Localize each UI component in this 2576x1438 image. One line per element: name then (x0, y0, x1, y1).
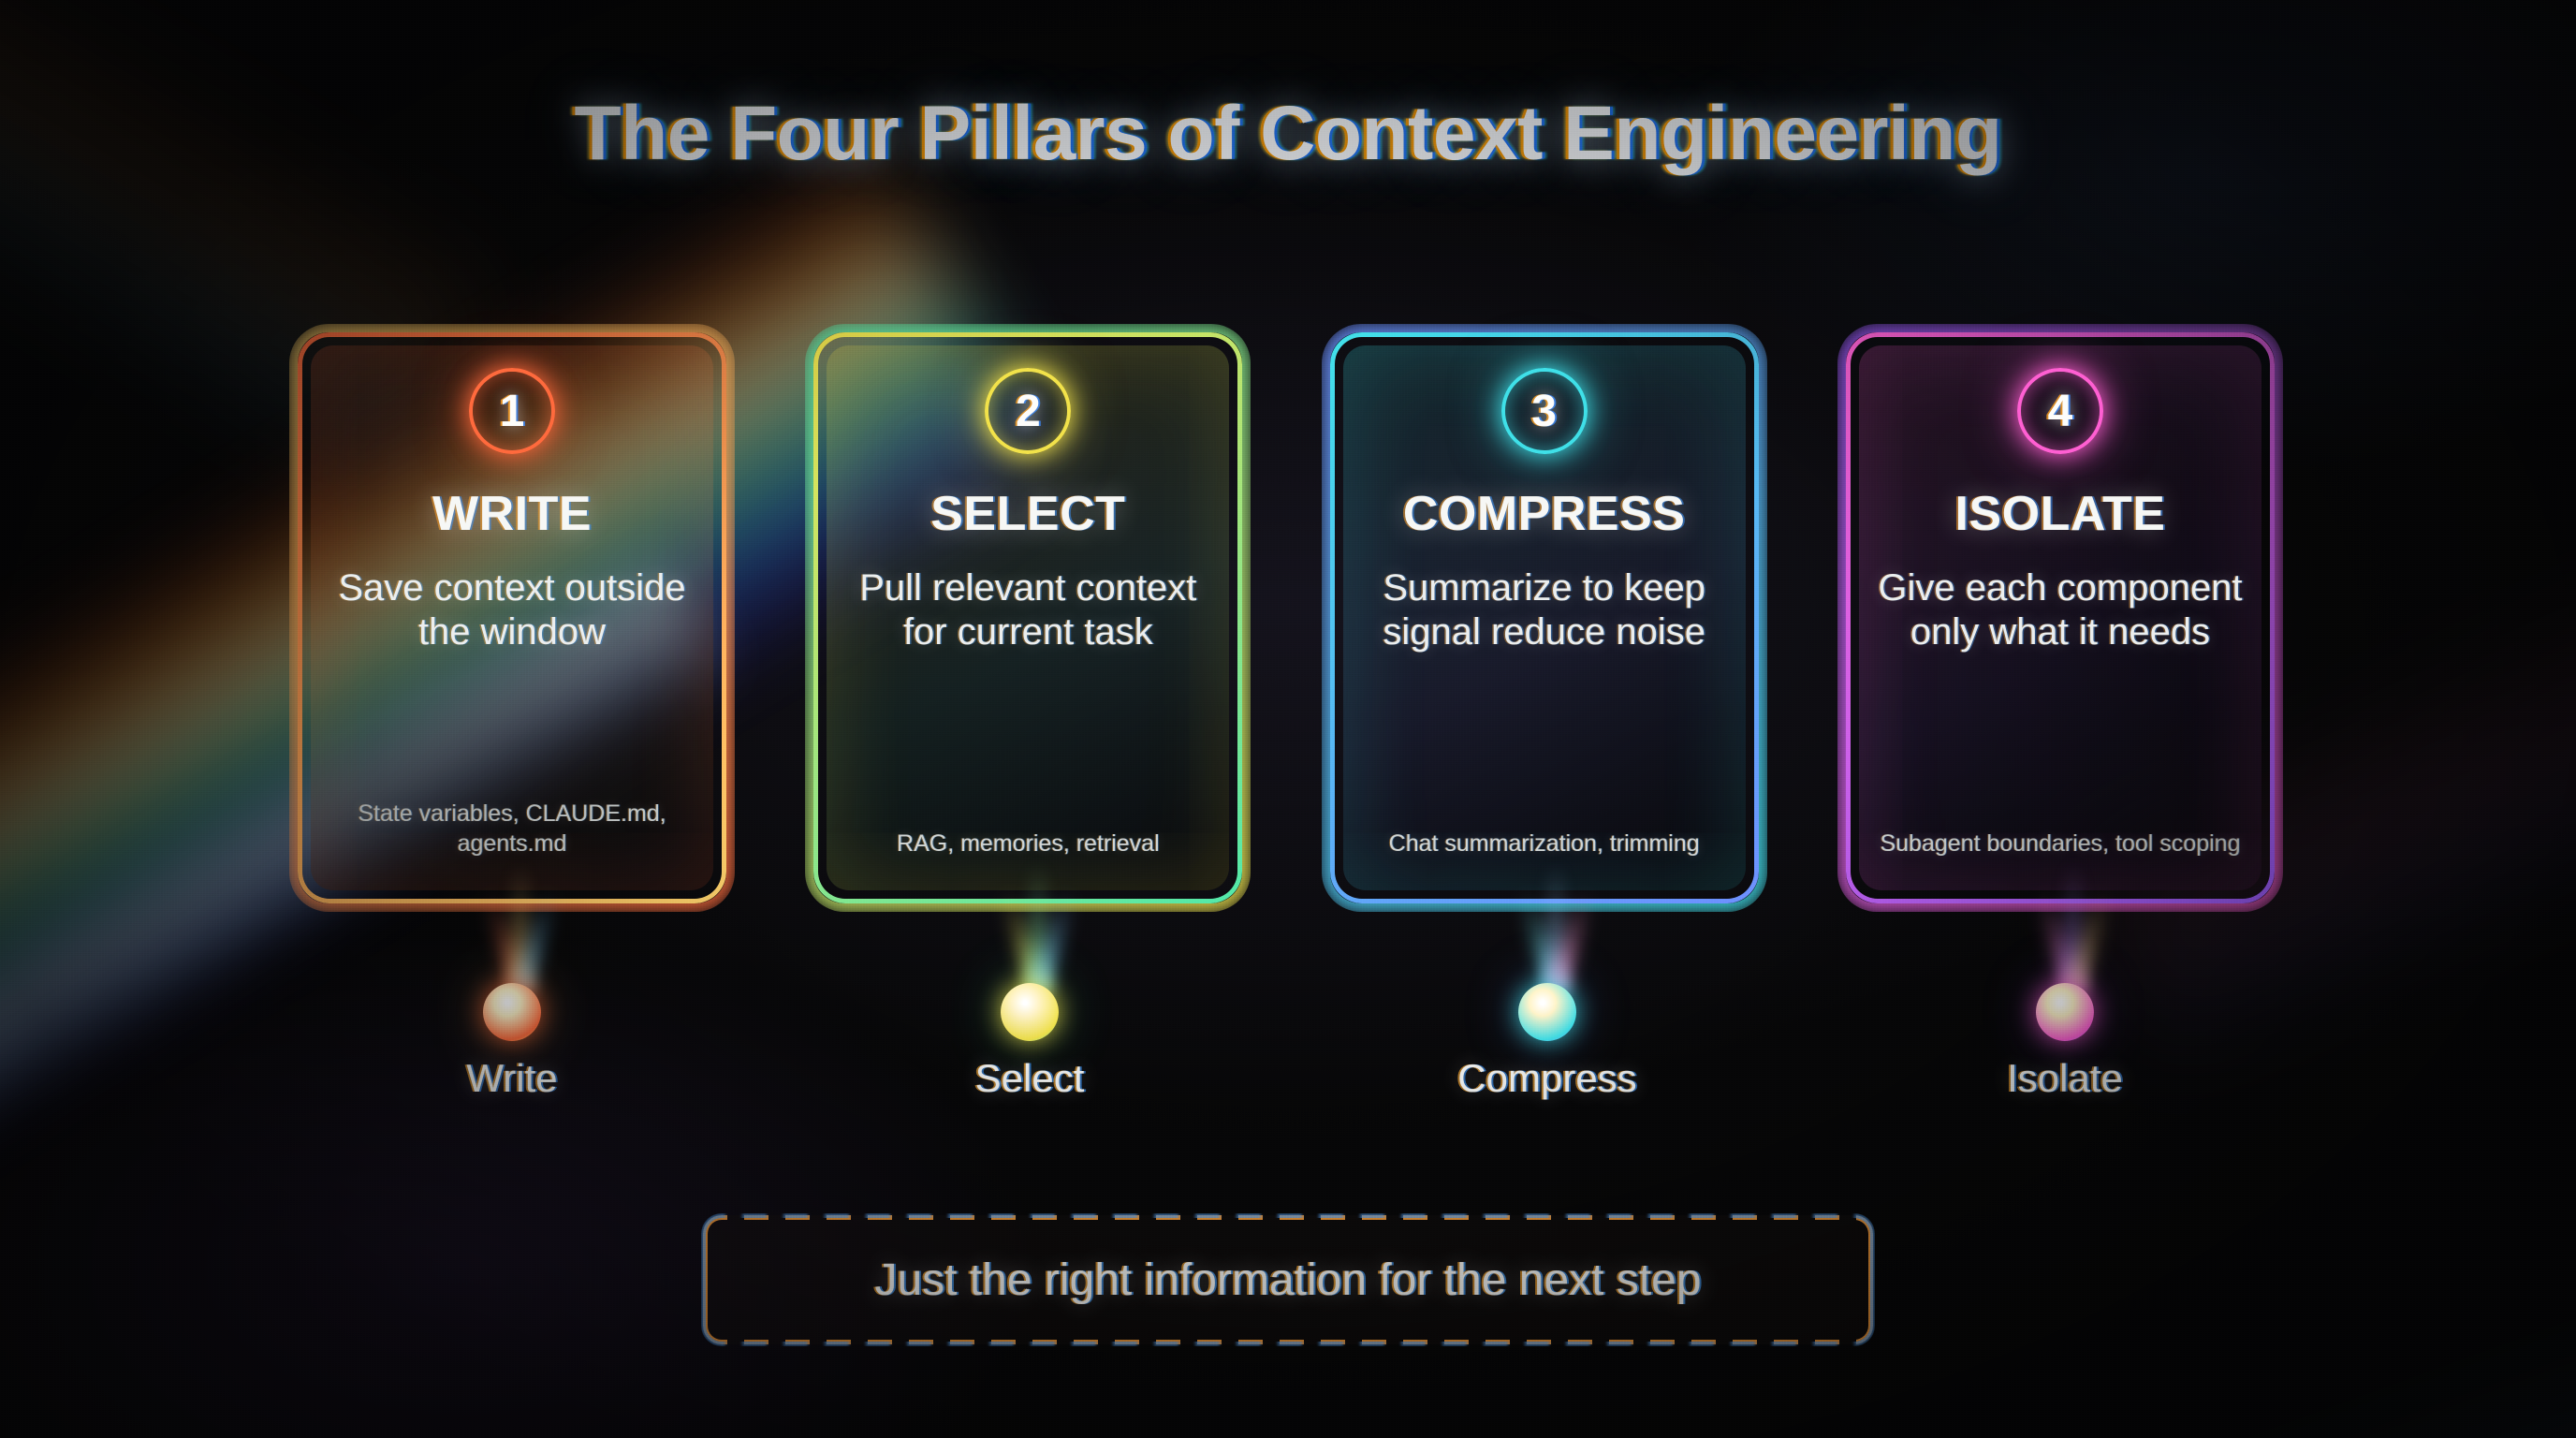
title-area: The Four Pillars of Context Engineering (0, 90, 2576, 178)
pillar-number-badge: 3 (1501, 368, 1588, 454)
pillar-number-badge: 4 (2017, 368, 2103, 454)
infographic-canvas: The Four Pillars of Context Engineering … (0, 0, 2576, 1438)
pillar-examples: Subagent boundaries, tool scoping (1874, 829, 2247, 858)
pillar-title: COMPRESS (1358, 486, 1731, 542)
summary-callout-text: Just the right information for the next … (874, 1255, 1701, 1306)
pillar-description: Save context outside the window (326, 566, 698, 654)
timeline-node-label: Compress (1457, 1056, 1636, 1101)
pillar-description: Give each component only what it needs (1874, 566, 2247, 654)
pillar-card[interactable]: 1WRITESave context outside the windowSta… (298, 332, 726, 903)
timeline-node[interactable]: Write (483, 983, 541, 1041)
pillar-card[interactable]: 3COMPRESSSummarize to keep signal reduce… (1330, 332, 1759, 903)
timeline-node[interactable]: Isolate (2036, 983, 2094, 1041)
timeline-node-label: Write (466, 1056, 557, 1101)
timeline-node-sphere (1518, 983, 1576, 1041)
timeline-node-sphere (1001, 983, 1059, 1041)
pillar-card-content: 3COMPRESSSummarize to keep signal reduce… (1358, 368, 1731, 654)
pillar-card-content: 1WRITESave context outside the window (326, 368, 698, 654)
prism-streak-upper-right (1739, 0, 2576, 97)
pillar-title: WRITE (326, 486, 698, 542)
pillar-number: 2 (1016, 386, 1041, 437)
pillar-number: 4 (2048, 386, 2073, 437)
pillar-number-badge: 2 (985, 368, 1071, 454)
timeline-node-label: Select (975, 1056, 1085, 1101)
summary-callout: Just the right information for the next … (703, 1215, 1873, 1344)
timeline-node-label: Isolate (2007, 1056, 2123, 1101)
page-title: The Four Pillars of Context Engineering (575, 90, 2002, 178)
pillar-examples: Chat summarization, trimming (1358, 829, 1731, 858)
pillar-examples: RAG, memories, retrieval (842, 829, 1214, 858)
pillar-number: 3 (1531, 386, 1557, 437)
prism-streak-lower-right (1870, 1298, 2576, 1438)
timeline-node[interactable]: Select (1001, 983, 1059, 1041)
pillar-card-row: 1WRITESave context outside the windowSta… (298, 332, 2275, 903)
timeline-node-sphere (483, 983, 541, 1041)
pillar-description: Summarize to keep signal reduce noise (1358, 566, 1731, 654)
pillar-card[interactable]: 4ISOLATEGive each component only what it… (1846, 332, 2275, 903)
pillar-description: Pull relevant context for current task (842, 566, 1214, 654)
timeline-node-sphere (2036, 983, 2094, 1041)
pillar-card[interactable]: 2SELECTPull relevant context for current… (813, 332, 1242, 903)
pillar-number-badge: 1 (469, 368, 555, 454)
pillar-examples: State variables, CLAUDE.md, agents.md (326, 799, 698, 858)
timeline-node[interactable]: Compress (1518, 983, 1576, 1041)
pillar-number: 1 (500, 386, 525, 437)
pillar-card-content: 2SELECTPull relevant context for current… (842, 368, 1214, 654)
pillar-card-content: 4ISOLATEGive each component only what it… (1874, 368, 2247, 654)
pillar-title: ISOLATE (1874, 486, 2247, 542)
process-timeline: WriteSelectCompressIsolate (0, 955, 2576, 1198)
pillar-title: SELECT (842, 486, 1214, 542)
